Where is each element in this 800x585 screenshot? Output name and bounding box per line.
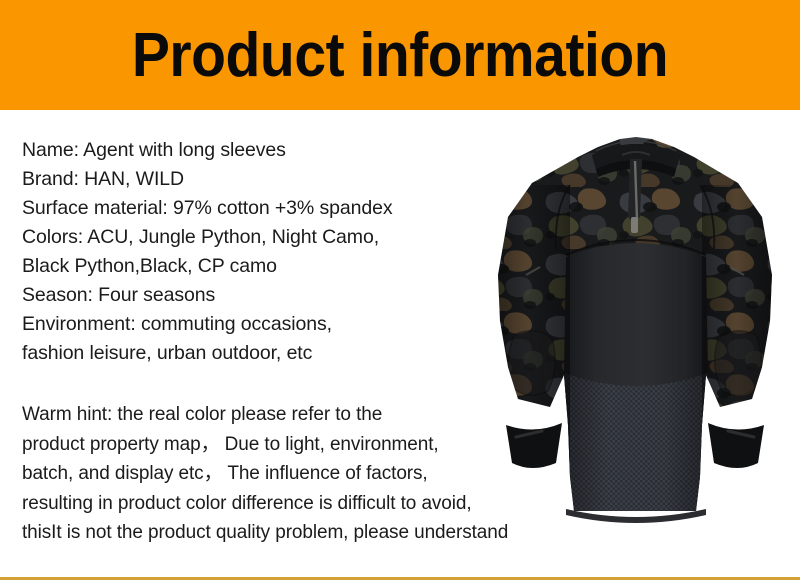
header-banner: Product information [0, 0, 800, 110]
spec-line-material: Surface material: 97% cotton +3% spandex [22, 194, 492, 223]
warm-hint-text: Warm hint: the real color please refer t… [22, 400, 582, 548]
torso-panel [564, 243, 708, 387]
spec-line-environment-1: Environment: commuting occasions, [22, 310, 492, 339]
spec-line-colors-1: Colors: ACU, Jungle Python, Night Camo, [22, 223, 492, 252]
spec-line-name: Name: Agent with long sleeves [22, 136, 492, 165]
hint-line-1: Warm hint: the real color please refer t… [22, 400, 582, 430]
hint-line-2: product property map， Due to light, envi… [22, 430, 582, 460]
spec-line-season: Season: Four seasons [22, 281, 492, 310]
shirt-hem [566, 509, 706, 523]
left-elbow-pad [508, 331, 555, 395]
spec-line-environment-2: fashion leisure, urban outdoor, etc [22, 339, 492, 368]
spec-line-colors-2: Black Python,Black, CP camo [22, 252, 492, 281]
page-title: Product information [32, 0, 768, 110]
hint-line-4: resulting in product color difference is… [22, 489, 582, 519]
hint-line-3: batch, and display etc， The influence of… [22, 459, 582, 489]
product-information-page: Product information [0, 0, 800, 585]
right-cuff [708, 423, 764, 468]
right-elbow-pad [715, 331, 762, 395]
spec-line-brand: Brand: HAN, WILD [22, 165, 492, 194]
specification-text: Name: Agent with long sleeves Brand: HAN… [22, 136, 492, 368]
hint-line-5: thisIt is not the product quality proble… [22, 518, 582, 548]
